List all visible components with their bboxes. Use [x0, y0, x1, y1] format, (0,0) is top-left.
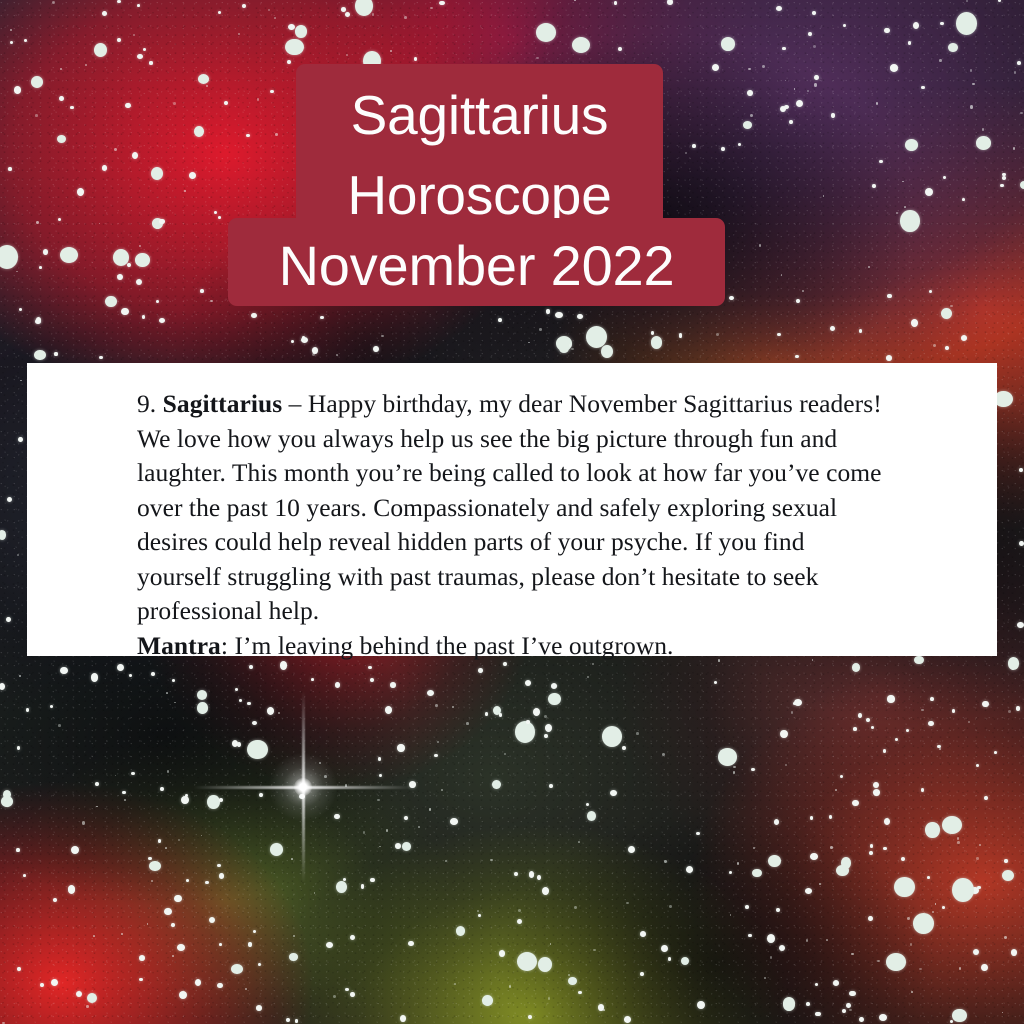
title-badge-lower: November 2022	[228, 218, 725, 306]
title-line-month: November 2022	[228, 238, 725, 293]
mantra-label: Mantra	[137, 631, 221, 660]
horoscope-sign: Sagittarius	[163, 389, 283, 418]
horoscope-dash: –	[282, 389, 308, 418]
title-line-sign: Sagittarius	[296, 88, 663, 143]
horoscope-graphic: Sagittarius Horoscope November 2022 9. S…	[0, 0, 1024, 1024]
horoscope-number: 9.	[137, 389, 156, 418]
mantra-separator: :	[221, 631, 235, 660]
horoscope-body-text: Happy birthday, my dear November Sagitta…	[137, 389, 882, 625]
horoscope-text: 9. Sagittarius – Happy birthday, my dear…	[137, 387, 887, 663]
title-badge-upper: Sagittarius Horoscope	[296, 64, 663, 242]
mantra-line: Mantra: I’m leaving behind the past I’ve…	[137, 629, 887, 664]
mantra-text: I’m leaving behind the past I’ve outgrow…	[234, 631, 673, 660]
title-line-horoscope: Horoscope	[296, 168, 663, 223]
horoscope-card: 9. Sagittarius – Happy birthday, my dear…	[27, 363, 997, 656]
